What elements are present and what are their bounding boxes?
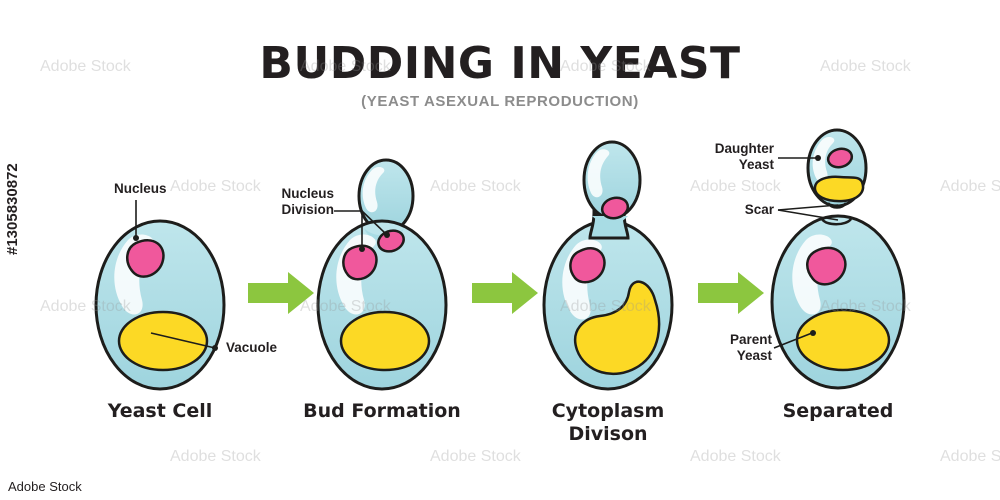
callout-nucleus-division: Nucleus Division (226, 186, 334, 218)
arrow-shape (472, 272, 538, 314)
stage-label-cytoplasm-division-line2: Divison (568, 423, 647, 445)
stage-label-cytoplasm-division: Cytoplasm Divison (508, 400, 708, 446)
callout-nucleus-division-line2: Division (281, 202, 334, 217)
parent-vacuole (797, 310, 889, 370)
nucleus-division-leader-dot-1 (359, 246, 365, 252)
nucleus-shape (127, 240, 163, 276)
stage-3-cytoplasm-division (544, 142, 672, 389)
callout-parent-yeast-line1: Parent (730, 332, 772, 347)
callout-nucleus: Nucleus (114, 181, 167, 197)
arrow-shape (248, 272, 314, 314)
stage-4-separated (772, 130, 904, 388)
stock-footer-label: Adobe Stock (8, 479, 82, 494)
nucleus-division-leader-dot-2 (384, 232, 390, 238)
callout-daughter-yeast-line2: Yeast (739, 157, 774, 172)
callout-scar: Scar (674, 202, 774, 218)
arrow-shape (698, 272, 764, 314)
diagram-canvas: BUDDING IN YEAST (YEAST ASEXUAL REPRODUC… (0, 0, 1000, 500)
arrow-1 (248, 272, 314, 314)
callout-nucleus-division-line1: Nucleus (281, 186, 334, 201)
vacuole-leader-dot (212, 345, 218, 351)
callout-vacuole: Vacuole (226, 340, 277, 356)
callout-parent-yeast: Parent Yeast (664, 332, 772, 364)
callout-daughter-yeast-line1: Daughter (715, 141, 774, 156)
stock-image-id: #1305830872 (4, 163, 21, 255)
scar-leader-line-2 (778, 210, 838, 220)
stage-label-separated: Separated (738, 400, 938, 423)
scar-leader-line-1 (778, 205, 838, 210)
arrow-3 (698, 272, 764, 314)
arrow-2 (472, 272, 538, 314)
vacuole-shape (119, 312, 207, 370)
stage-1-yeast-cell (96, 200, 224, 389)
parent-leader-dot (810, 330, 816, 336)
budding-illustration (0, 0, 1000, 500)
callout-parent-yeast-line2: Yeast (737, 348, 772, 363)
nucleus-shape-parent (570, 248, 604, 282)
stage-2-bud-formation (318, 160, 446, 389)
stage-label-cytoplasm-division-line1: Cytoplasm (552, 400, 665, 422)
stage-label-yeast-cell: Yeast Cell (60, 400, 260, 423)
daughter-vacuole (815, 177, 863, 201)
vacuole-shape (341, 312, 429, 370)
nucleus-leader-dot (133, 235, 139, 241)
daughter-leader-dot (815, 155, 821, 161)
stage-label-bud-formation: Bud Formation (282, 400, 482, 423)
callout-daughter-yeast: Daughter Yeast (664, 141, 774, 173)
parent-nucleus (807, 248, 845, 284)
